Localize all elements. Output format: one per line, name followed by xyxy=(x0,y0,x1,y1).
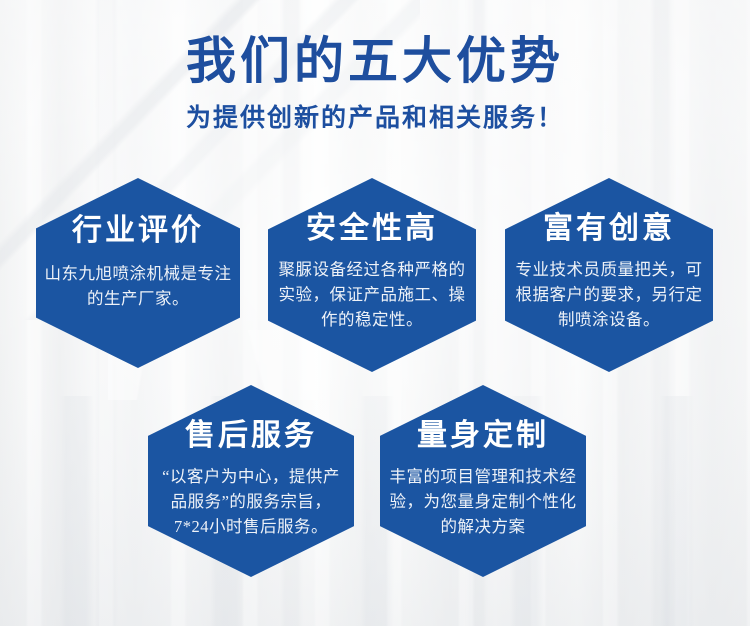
heading-block: 我们的五大优势 为提供创新的产品和相关服务！ xyxy=(0,34,750,134)
advantage-body: 聚脲设备经过各种严格的实验，保证产品施工、操作的稳定性。 xyxy=(268,244,476,332)
advantage-body: 丰富的项目管理和技术经验，为您量身定制个性化的解决方案 xyxy=(382,451,584,539)
page-subtitle: 为提供创新的产品和相关服务！ xyxy=(0,98,750,134)
advantage-body: “以客户为中心，提供产品服务”的服务宗旨，7*24小时售后服务。 xyxy=(148,451,354,539)
advantage-body: 山东九旭喷涂机械是专注的生产厂家。 xyxy=(37,246,239,312)
advantage-body: 专业技术员质量把关，可根据客户的要求，另行定制喷涂设备。 xyxy=(505,244,713,332)
advantages-banner: 我们的五大优势 为提供创新的产品和相关服务！ 行业评价 山东九旭喷涂机械是专注的… xyxy=(0,0,750,626)
page-title: 我们的五大优势 xyxy=(0,34,750,88)
